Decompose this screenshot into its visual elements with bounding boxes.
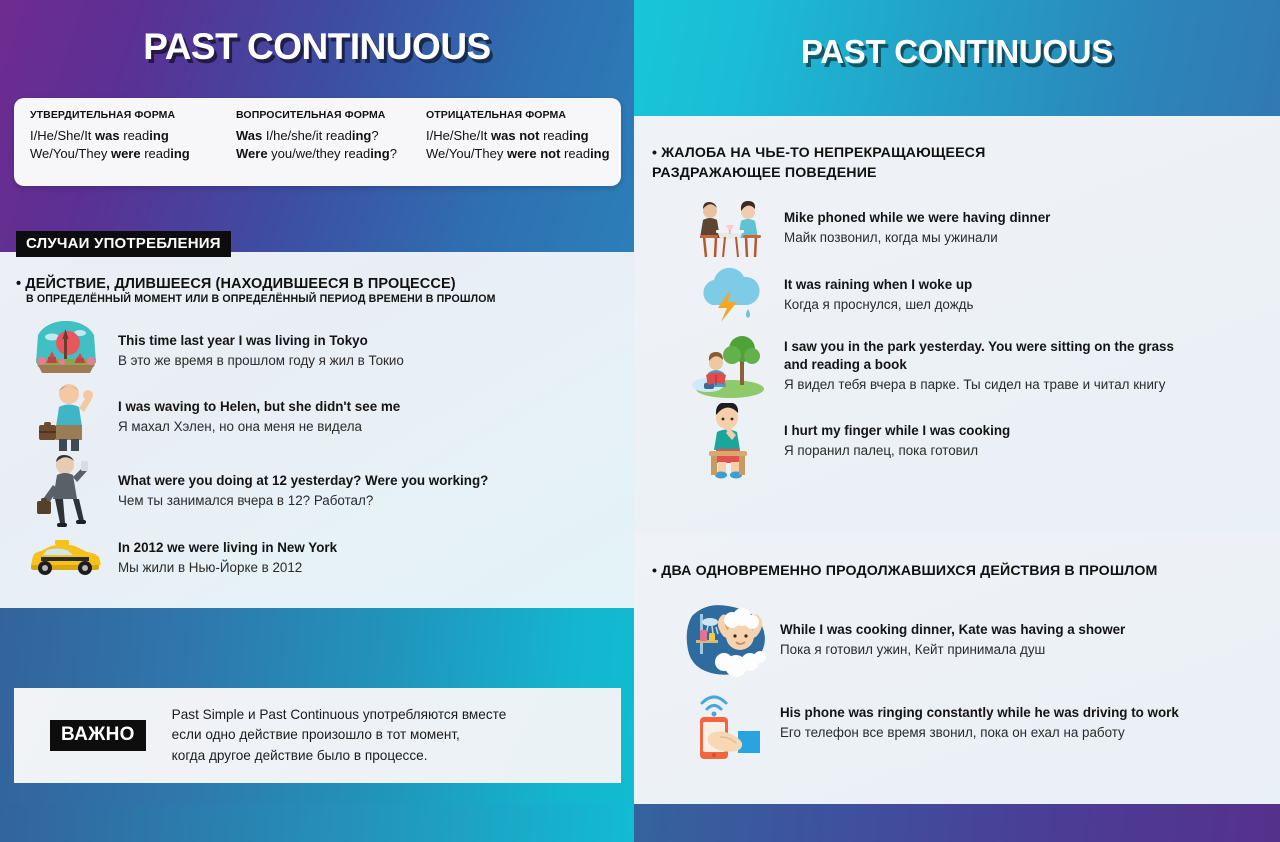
example-row: While I was cooking dinner, Kate was hav… <box>634 597 1280 683</box>
boy-reading-park-icon <box>684 331 776 401</box>
example-row: His phone was ringing constantly while h… <box>634 683 1280 763</box>
example-row: What were you doing at 12 yesterday? Wer… <box>0 453 634 529</box>
interrogative-line-1: Was I/he/she/it reading? <box>236 127 410 145</box>
left-panel: PAST CONTINUOUS УТВЕРДИТЕЛЬНАЯ ФОРМА I/H… <box>0 0 634 842</box>
left-content-area: • ДЕЙСТВИЕ, ДЛИВШЕЕСЯ (НАХОДИВШЕЕСЯ В ПР… <box>0 252 634 608</box>
example-text: What were you doing at 12 yesterday? Wer… <box>112 472 488 510</box>
left-examples-list: This time last year I was living in Toky… <box>0 321 634 587</box>
negative-form-column: ОТРИЦАТЕЛЬНАЯ ФОРМА I/He/She/It was not … <box>410 109 621 186</box>
example-russian: Его телефон все время звонил, пока он ех… <box>780 723 1179 742</box>
example-text: His phone was ringing constantly while h… <box>778 704 1179 742</box>
example-russian: Пока я готовил ужин, Кейт принимала душ <box>780 640 1125 659</box>
example-english: This time last year I was living in Toky… <box>118 332 404 350</box>
interrogative-form-heading: ВОПРОСИТЕЛЬНАЯ ФОРМА <box>236 109 410 121</box>
left-page-title: PAST CONTINUOUS <box>0 26 634 68</box>
usage-bullet-1-sub: В ОПРЕДЕЛЁННЫЙ МОМЕНТ ИЛИ В ОПРЕДЕЛЁННЫЙ… <box>16 293 634 305</box>
example-russian: В это же время в прошлом году я жил в То… <box>118 351 404 370</box>
right-bullet-simultaneous-line-1: • ДВА ОДНОВРЕМЕННО ПРОДОЛЖАВШИХСЯ ДЕЙСТВ… <box>652 561 1280 581</box>
important-line-1: Past Simple и Past Continuous употребляю… <box>172 705 507 726</box>
right-examples-list-b: While I was cooking dinner, Kate was hav… <box>634 597 1280 763</box>
usage-bullet-1-main: • ДЕЙСТВИЕ, ДЛИВШЕЕСЯ (НАХОДИВШЕЕСЯ В ПР… <box>16 276 634 292</box>
man-waving-icon <box>20 381 112 453</box>
rain-cloud-lightning-icon <box>684 263 776 327</box>
example-text: Mike phoned while we were having dinner … <box>776 209 1050 247</box>
example-row: In 2012 we were living in New York Мы жи… <box>0 529 634 587</box>
negative-line-2: We/You/They were not reading <box>426 145 621 163</box>
phone-ringing-hand-icon <box>678 685 778 761</box>
example-text: In 2012 we were living in New York Мы жи… <box>112 539 337 577</box>
boy-hurt-finger-icon <box>684 403 776 479</box>
couple-dinner-icon <box>684 197 776 259</box>
right-panel: PAST CONTINUOUS • ЖАЛОБА НА ЧЬЕ-ТО НЕПРЕ… <box>634 0 1280 842</box>
negative-form-heading: ОТРИЦАТЕЛЬНАЯ ФОРМА <box>426 109 621 121</box>
example-russian: Майк позвонил, когда мы ужинали <box>784 228 1050 247</box>
yellow-taxi-icon <box>20 539 112 577</box>
right-bullet-simultaneous: • ДВА ОДНОВРЕМЕННО ПРОДОЛЖАВШИХСЯ ДЕЙСТВ… <box>634 538 1280 581</box>
important-line-3: когда другое действие было в процессе. <box>172 746 507 767</box>
infographic-poster: PAST CONTINUOUS УТВЕРДИТЕЛЬНАЯ ФОРМА I/H… <box>0 0 1280 842</box>
example-english: I hurt my finger while I was cooking <box>784 422 1010 440</box>
important-text: Past Simple и Past Continuous употребляю… <box>172 705 507 767</box>
example-text: I saw you in the park yesterday. You wer… <box>776 338 1174 394</box>
example-text: This time last year I was living in Toky… <box>112 332 404 370</box>
left-footer-strip <box>0 804 634 842</box>
woman-shower-icon <box>678 600 778 680</box>
tokyo-city-icon <box>20 321 112 381</box>
interrogative-line-2: Were you/we/they reading? <box>236 145 410 163</box>
affirmative-line-1: I/He/She/It was reading <box>30 127 220 145</box>
example-row: I was waving to Helen, but she didn't se… <box>0 381 634 453</box>
example-russian: Я махал Хэлен, но она меня не видела <box>118 417 400 436</box>
right-examples-list-a: Mike phoned while we were having dinner … <box>634 195 1280 479</box>
example-row: This time last year I was living in Toky… <box>0 321 634 381</box>
right-page-title: PAST CONTINUOUS <box>634 33 1280 71</box>
example-english: It was raining when I woke up <box>784 276 973 294</box>
example-text: It was raining when I woke up Когда я пр… <box>776 276 973 314</box>
example-row: I saw you in the park yesterday. You wer… <box>634 329 1280 403</box>
example-english: In 2012 we were living in New York <box>118 539 337 557</box>
important-line-2: если одно действие произошло в тот момен… <box>172 725 507 746</box>
affirmative-form-column: УТВЕРДИТЕЛЬНАЯ ФОРМА I/He/She/It was rea… <box>14 109 220 186</box>
example-text: I was waving to Helen, but she didn't se… <box>112 398 400 436</box>
example-row: I hurt my finger while I was cooking Я п… <box>634 403 1280 479</box>
right-section-complaint: • ЖАЛОБА НА ЧЬЕ-ТО НЕПРЕКРАЩАЮЩЕЕСЯ РАЗД… <box>634 120 1280 532</box>
interrogative-form-column: ВОПРОСИТЕЛЬНАЯ ФОРМА Was I/he/she/it rea… <box>220 109 410 186</box>
important-card: ВАЖНО Past Simple и Past Continuous упот… <box>14 688 621 783</box>
example-russian: Мы жили в Нью-Йорке в 2012 <box>118 558 337 577</box>
affirmative-line-2: We/You/They were reading <box>30 145 220 163</box>
right-bullet-complaint-line-1: • ЖАЛОБА НА ЧЬЕ-ТО НЕПРЕКРАЩАЮЩЕЕСЯ <box>652 143 1280 163</box>
example-russian: Я поранил палец, пока готовил <box>784 441 1010 460</box>
example-russian: Чем ты занимался вчера в 12? Работал? <box>118 491 488 510</box>
usage-bullet-1: • ДЕЙСТВИЕ, ДЛИВШЕЕСЯ (НАХОДИВШЕЕСЯ В ПР… <box>0 276 634 305</box>
grammar-forms-card: УТВЕРДИТЕЛЬНАЯ ФОРМА I/He/She/It was rea… <box>14 98 621 186</box>
usage-cases-badge: СЛУЧАИ УПОТРЕБЛЕНИЯ <box>16 231 231 257</box>
example-english-line-2: and reading a book <box>784 356 1174 374</box>
example-english: His phone was ringing constantly while h… <box>780 704 1179 722</box>
example-english: I was waving to Helen, but she didn't se… <box>118 398 400 416</box>
example-english: What were you doing at 12 yesterday? Wer… <box>118 472 488 490</box>
example-text: While I was cooking dinner, Kate was hav… <box>778 621 1125 659</box>
example-russian: Когда я проснулся, шел дождь <box>784 295 973 314</box>
affirmative-form-heading: УТВЕРДИТЕЛЬНАЯ ФОРМА <box>30 109 220 121</box>
right-bullet-complaint: • ЖАЛОБА НА ЧЬЕ-ТО НЕПРЕКРАЩАЮЩЕЕСЯ РАЗД… <box>634 120 1280 183</box>
example-text: I hurt my finger while I was cooking Я п… <box>776 422 1010 460</box>
example-row: Mike phoned while we were having dinner … <box>634 195 1280 261</box>
right-bullet-complaint-line-2: РАЗДРАЖАЮЩЕЕ ПОВЕДЕНИЕ <box>652 163 1280 183</box>
important-badge: ВАЖНО <box>50 720 146 751</box>
example-english: While I was cooking dinner, Kate was hav… <box>780 621 1125 639</box>
right-footer-band <box>634 804 1280 842</box>
right-section-simultaneous: • ДВА ОДНОВРЕМЕННО ПРОДОЛЖАВШИХСЯ ДЕЙСТВ… <box>634 538 1280 804</box>
negative-line-1: I/He/She/It was not reading <box>426 127 621 145</box>
example-row: It was raining when I woke up Когда я пр… <box>634 261 1280 329</box>
example-russian: Я видел тебя вчера в парке. Ты сидел на … <box>784 375 1174 394</box>
businessman-phone-icon <box>20 453 112 529</box>
example-english: Mike phoned while we were having dinner <box>784 209 1050 227</box>
example-english: I saw you in the park yesterday. You wer… <box>784 338 1174 356</box>
